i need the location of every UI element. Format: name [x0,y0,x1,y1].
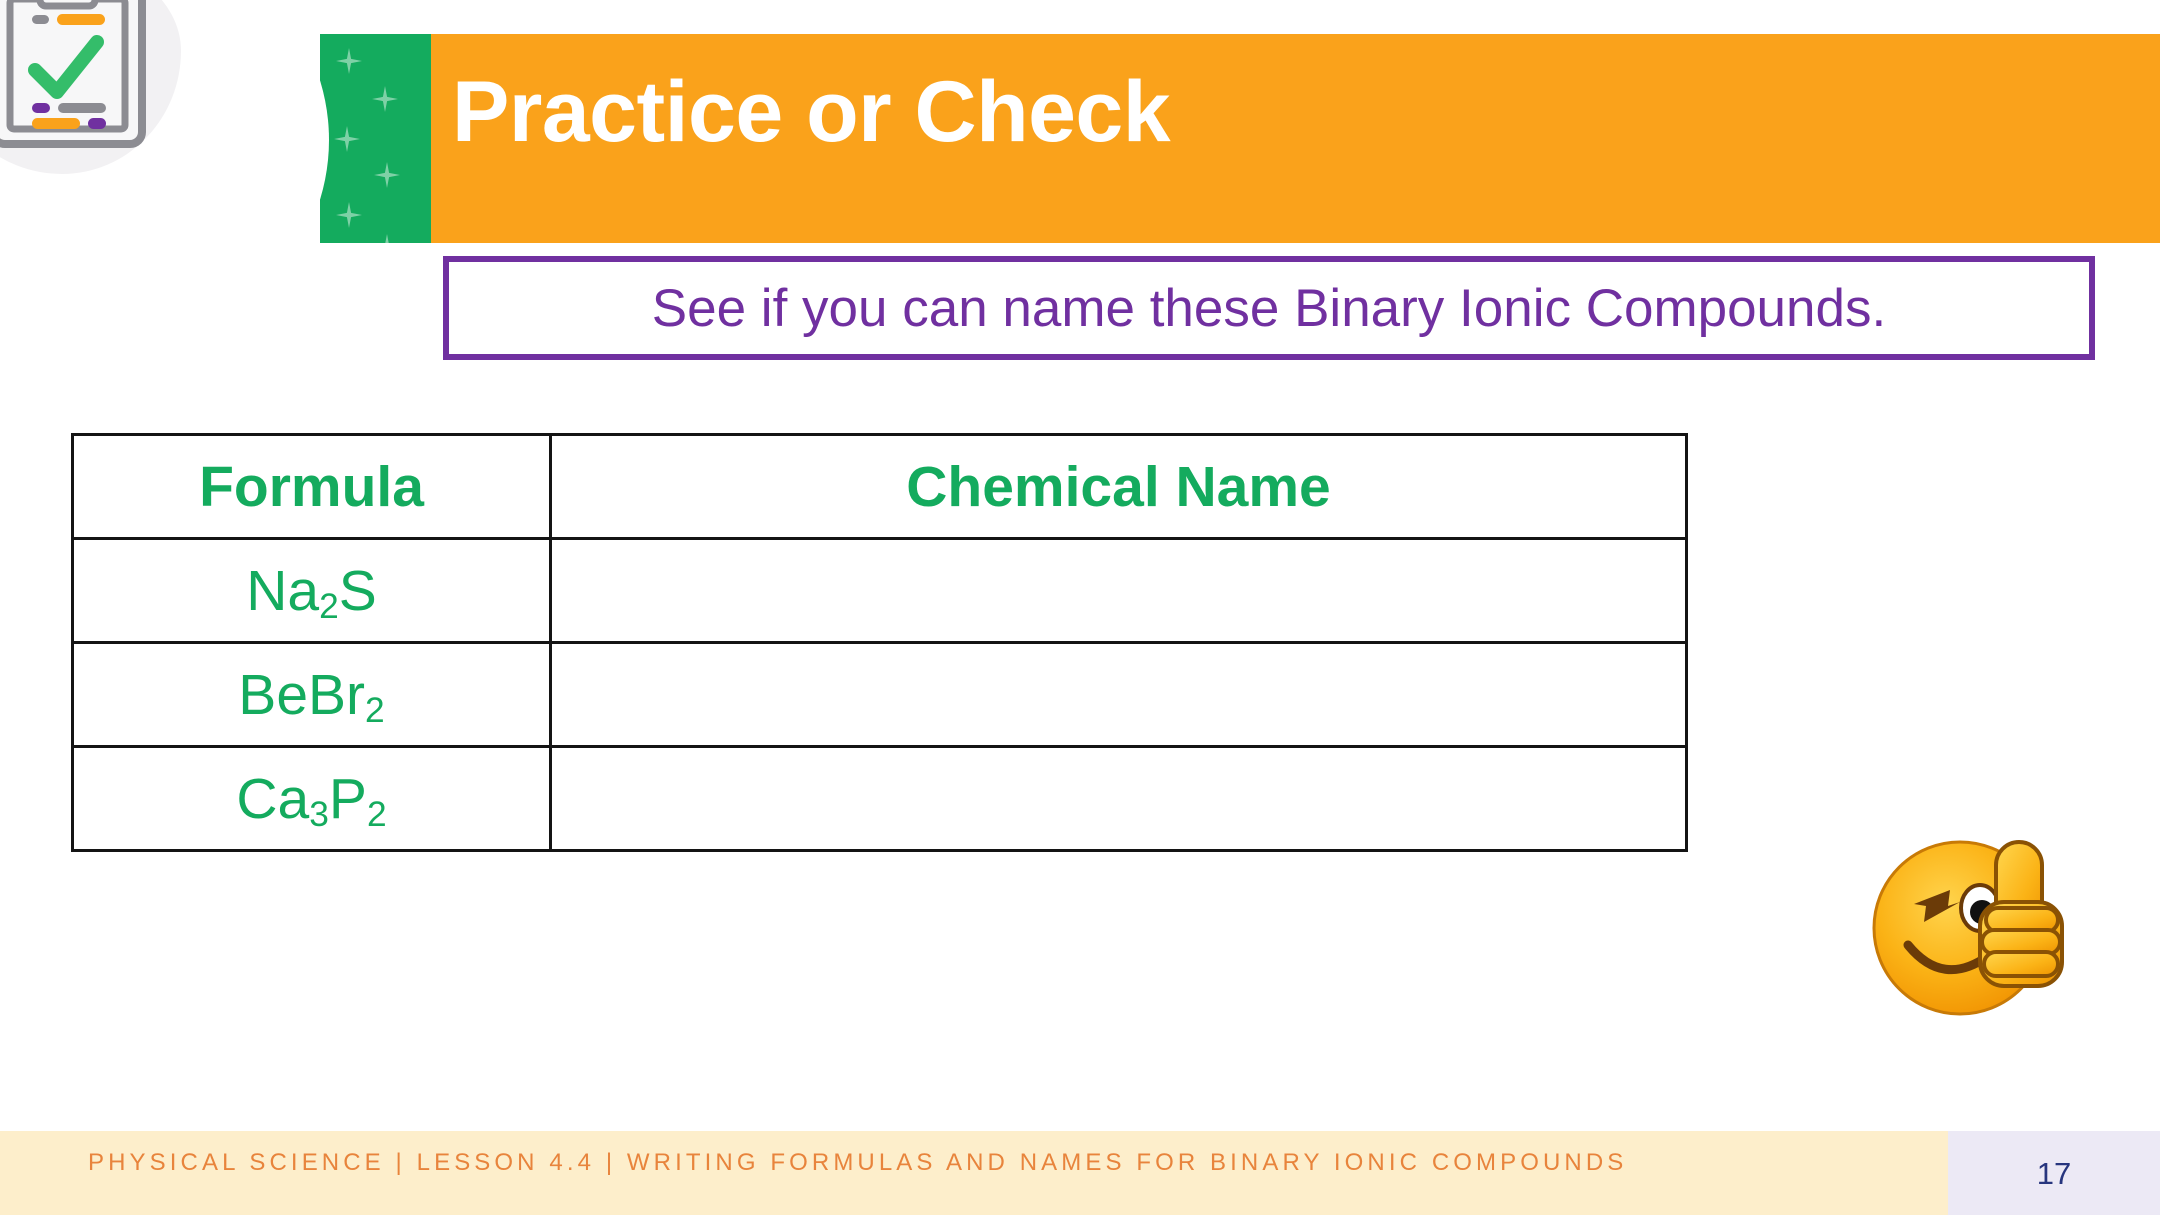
footer-breadcrumb-text: Physical Science | Lesson 4.4 | Writing … [88,1145,1888,1181]
sparkle-icon [372,86,398,112]
clipboard-check-icon [0,0,150,151]
formula-tail: P [329,767,367,831]
sparkle-icon [336,48,362,74]
column-header-formula: Formula [73,435,551,539]
formula-base: BeBr [238,663,365,727]
sparkle-icon [374,162,400,188]
sparkle-icon [336,202,362,228]
instruction-callout-box: See if you can name these Binary Ionic C… [443,256,2095,360]
header-green-accent-strip [320,34,431,243]
table-header-row: Formula Chemical Name [73,435,1687,539]
table-row: Ca3P2 [73,747,1687,851]
formula-base: Na [246,559,319,623]
formula-tail: S [339,559,377,623]
binary-ionic-compounds-table: Formula Chemical Name Na2S BeBr2 Ca3P2 [71,433,1688,852]
page-title: Practice or Check [452,62,1170,162]
chemical-name-answer-cell[interactable] [551,643,1687,747]
formula-subscript: 2 [367,795,387,834]
formula-cell: Ca3P2 [73,747,551,851]
formula-subscript: 3 [309,795,329,834]
winking-face-with-thumbs-up-emoji [1868,828,2078,1028]
page-number: 17 [2037,1158,2071,1189]
formula-subscript: 2 [319,587,339,626]
chemical-name-answer-cell[interactable] [551,747,1687,851]
table-row: Na2S [73,539,1687,643]
sparkle-icon [334,126,360,152]
formula-cell: Na2S [73,539,551,643]
page-number-box: 17 [1948,1131,2160,1215]
instruction-text: See if you can name these Binary Ionic C… [652,282,1886,335]
sparkle-icon [374,234,400,243]
hero-circle-decoration [0,0,329,342]
table-row: BeBr2 [73,643,1687,747]
column-header-chemical-name: Chemical Name [551,435,1687,539]
formula-base: Ca [236,767,309,831]
chemical-name-answer-cell[interactable] [551,539,1687,643]
formula-cell: BeBr2 [73,643,551,747]
formula-subscript: 2 [365,691,385,730]
